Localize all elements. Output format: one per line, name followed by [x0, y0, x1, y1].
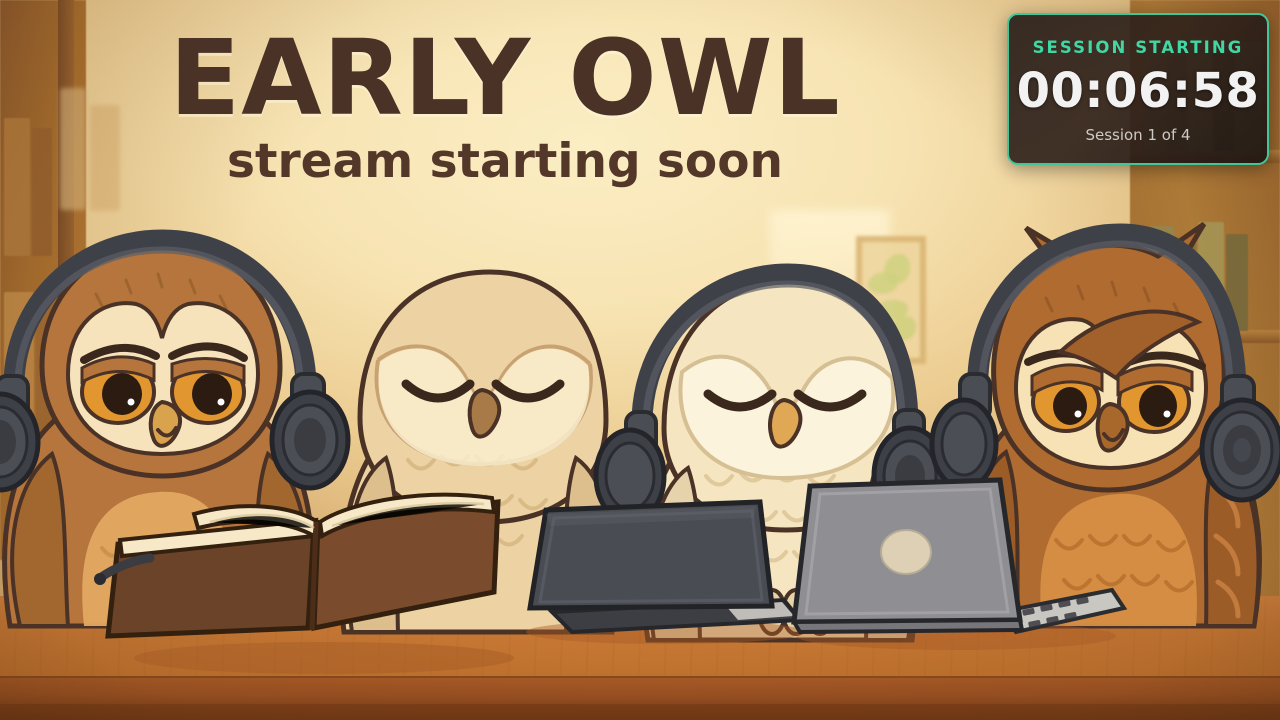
title-block: EARLY OWL stream starting soon: [0, 26, 1010, 189]
laptop-icon: [516, 494, 806, 644]
desk-apron: [0, 704, 1280, 720]
session-progress-label: Session 1 of 4: [1085, 126, 1190, 144]
book-icon: [94, 482, 534, 672]
session-timer-panel: SESSION STARTING 00:06:58 Session 1 of 4: [1007, 13, 1269, 165]
laptop-icon: [786, 472, 1126, 652]
page-subtitle: stream starting soon: [0, 134, 1010, 189]
desk-front-edge: [0, 676, 1280, 706]
page-title: EARLY OWL: [0, 26, 1010, 130]
stream-starting-scene: EARLY OWL stream starting soon SESSION S…: [0, 0, 1280, 720]
countdown-timer: 00:06:58: [1017, 66, 1260, 116]
status-badge: SESSION STARTING: [1033, 38, 1244, 57]
